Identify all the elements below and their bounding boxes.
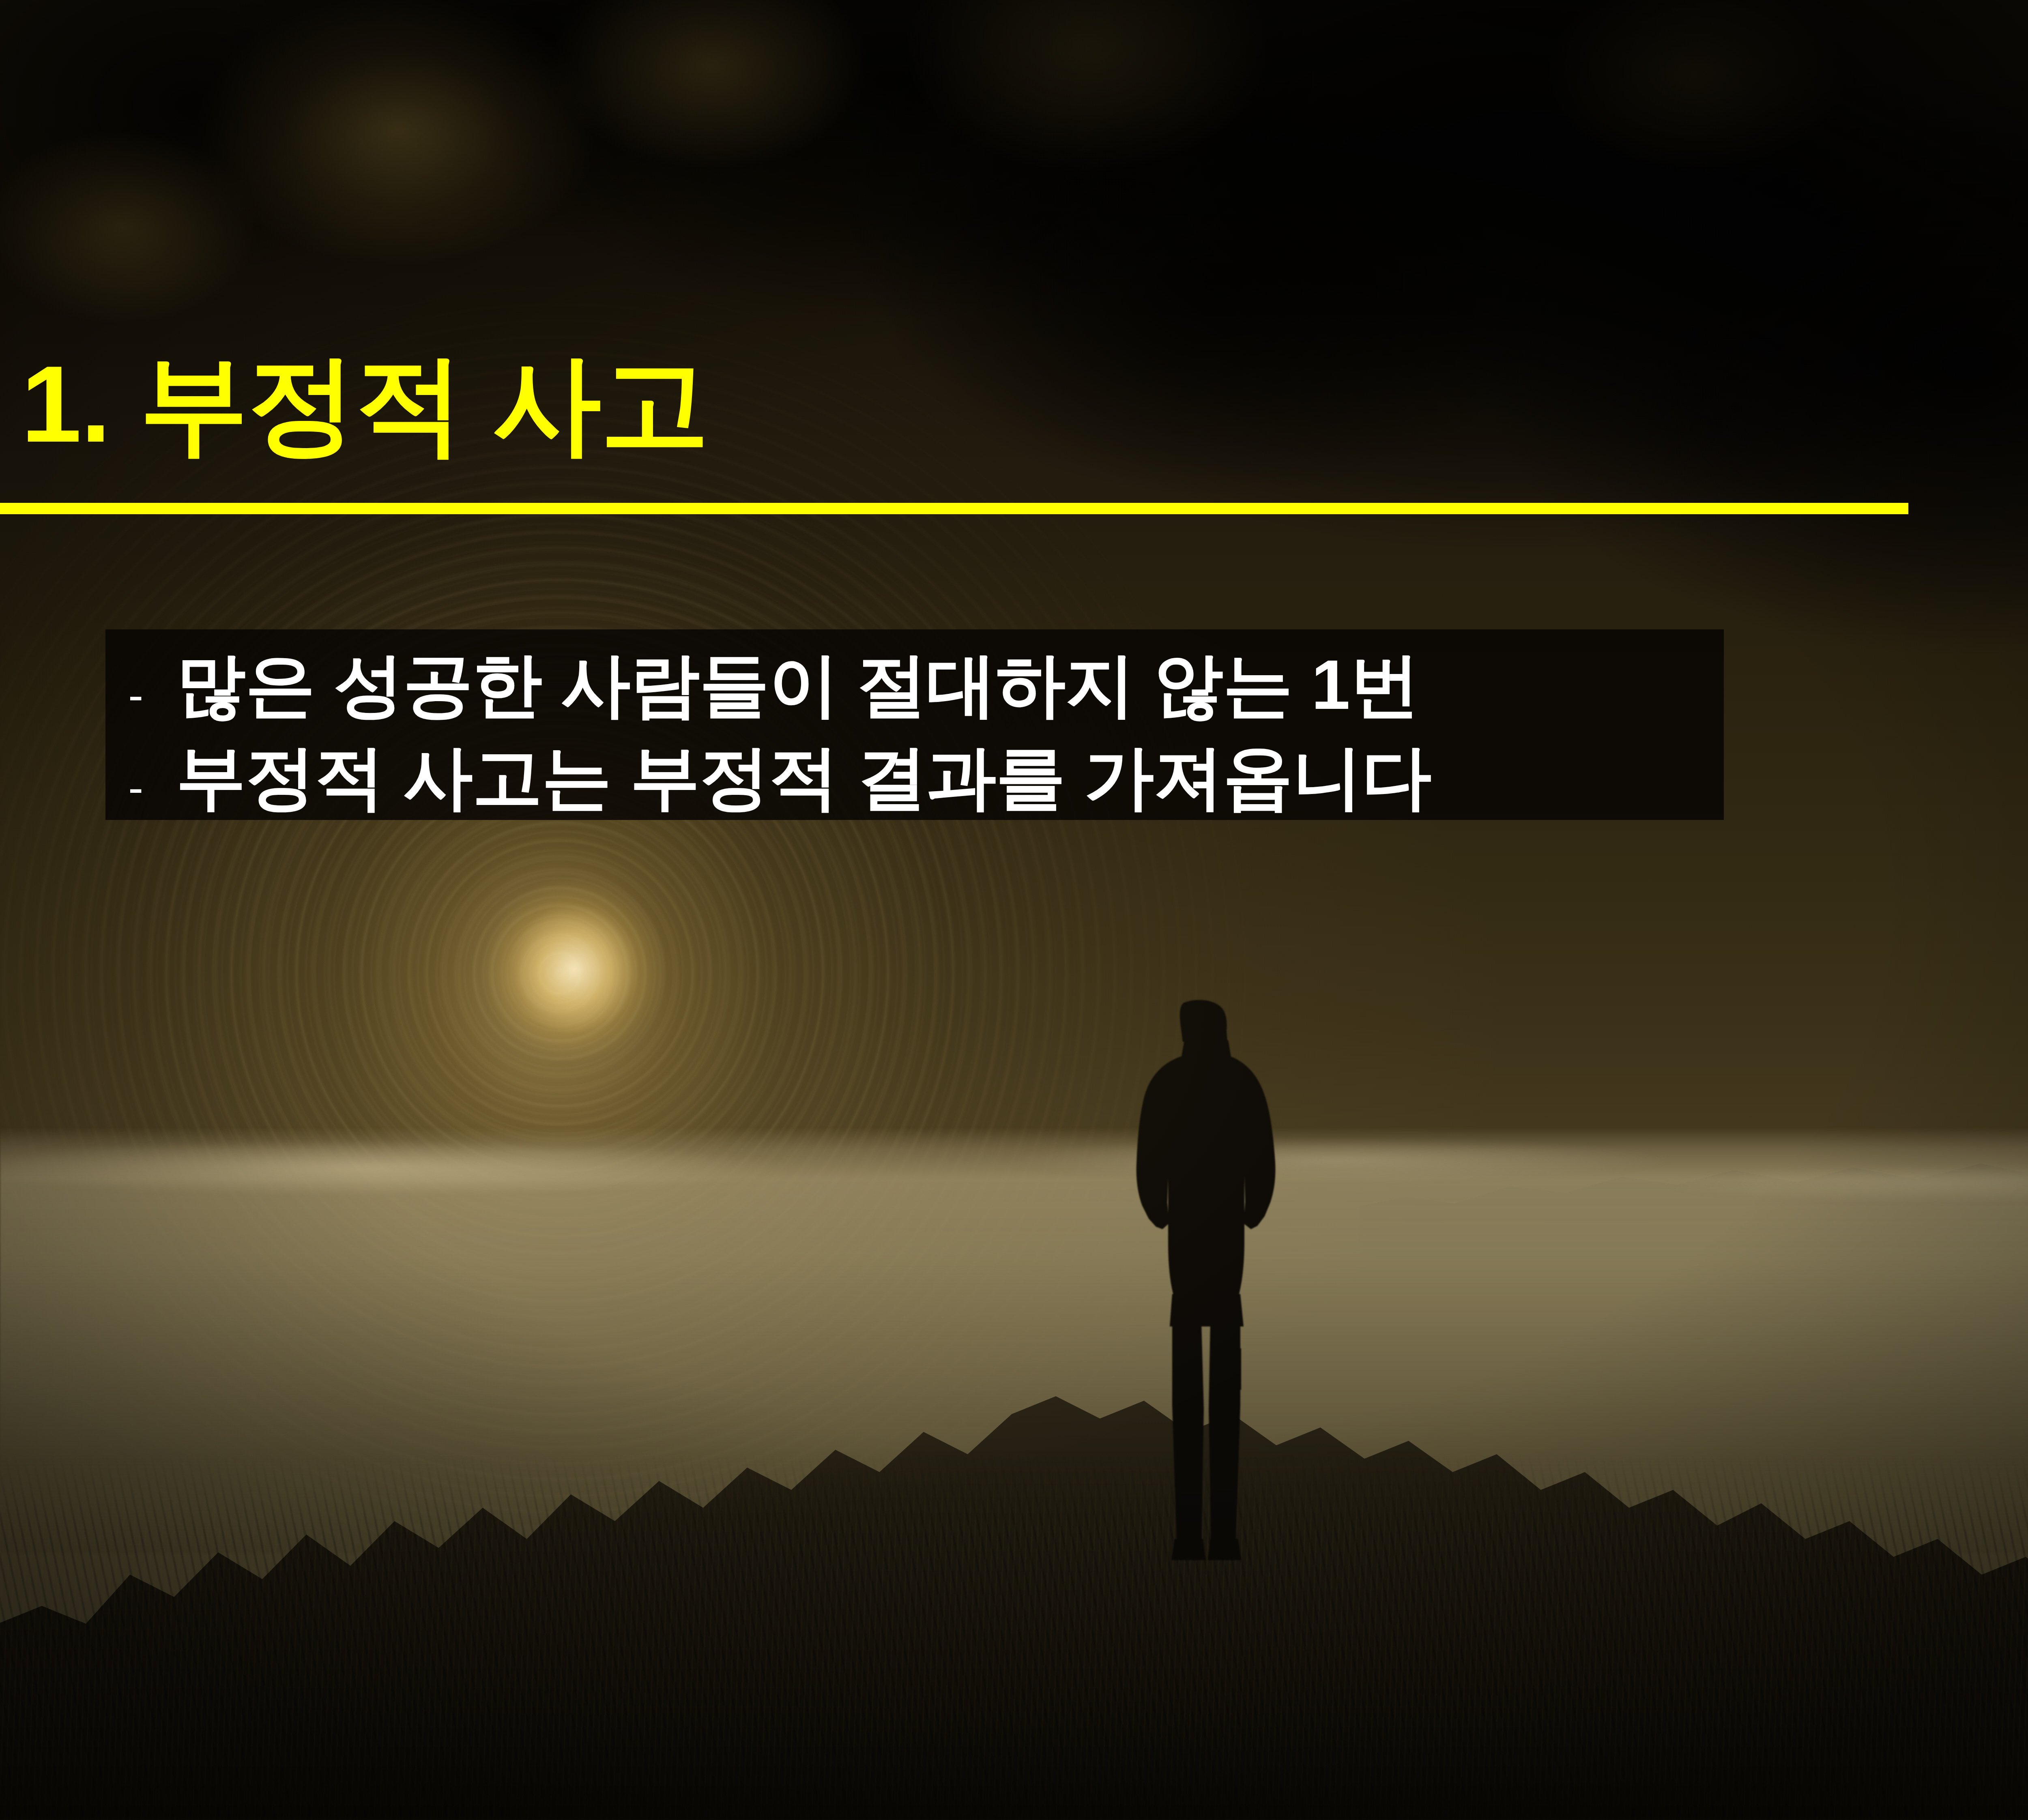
page-title: 1. 부정적 사고 [21,350,708,458]
bullet-text: 부정적 사고는 부정적 결과를 가져옵니다 [176,742,1431,812]
title-underline-rule [0,503,1908,514]
atmospheric-haze-vignette [0,0,2028,1820]
presentation-slide: 1. 부정적 사고 - 많은 성공한 사람들이 절대하지 않는 1번 - 부정적… [0,0,2028,1820]
bullet-marker-icon: - [128,742,176,810]
bullet-text: 많은 성공한 사람들이 절대하지 않는 1번 [176,650,1419,719]
list-item: - 부정적 사고는 부정적 결과를 가져옵니다 [128,742,1431,812]
list-item: - 많은 성공한 사람들이 절대하지 않는 1번 [128,650,1419,719]
bullet-text-panel: - 많은 성공한 사람들이 절대하지 않는 1번 - 부정적 사고는 부정적 결… [105,629,1724,820]
bullet-marker-icon: - [128,650,176,718]
